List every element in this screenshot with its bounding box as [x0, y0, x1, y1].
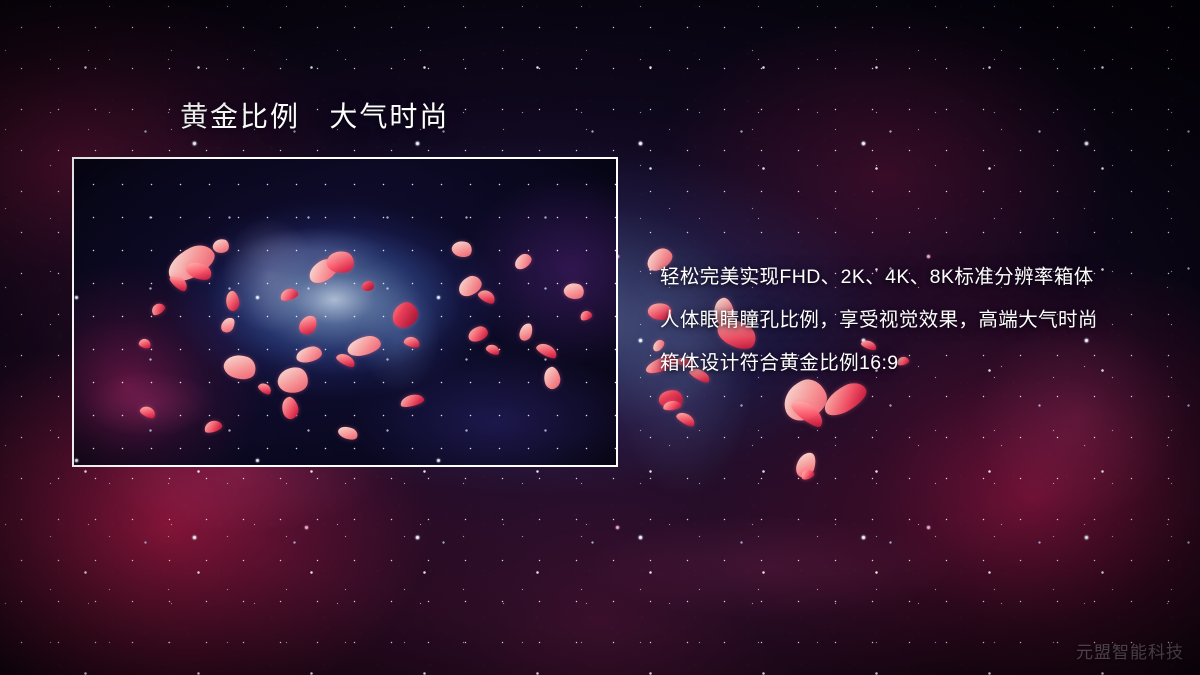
page-title: 黄金比例 大气时尚	[180, 100, 449, 134]
slide-canvas: 黄金比例 大气时尚 轻松完美实现FHD、2K、4K、8K标准分辨率箱体 人体眼睛…	[0, 0, 1200, 675]
watermark: 元盟智能科技	[1076, 638, 1184, 663]
body-copy-line-2: 人体眼睛瞳孔比例，享受视觉效果，高端大气时尚	[660, 299, 1180, 342]
photo-starfield	[74, 159, 616, 465]
body-copy-line-3: 箱体设计符合黄金比例16:9	[660, 342, 1180, 385]
body-copy: 轻松完美实现FHD、2K、4K、8K标准分辨率箱体 人体眼睛瞳孔比例，享受视觉效…	[660, 256, 1180, 385]
photo-frame	[72, 157, 618, 467]
body-copy-line-1: 轻松完美实现FHD、2K、4K、8K标准分辨率箱体	[660, 256, 1180, 299]
